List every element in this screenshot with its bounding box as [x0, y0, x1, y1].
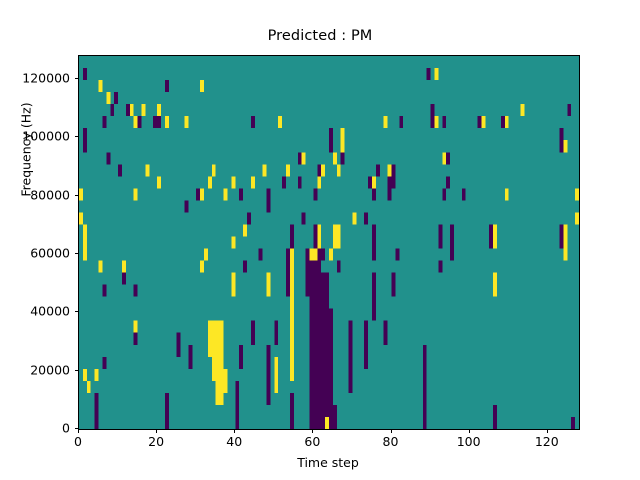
y-tick-mark — [75, 136, 79, 137]
heatmap-plot-area — [78, 55, 580, 430]
y-tick-label: 100000 — [0, 129, 70, 144]
y-tick-mark — [75, 195, 79, 196]
y-tick-label: 80000 — [0, 187, 70, 202]
y-tick-label: 40000 — [0, 304, 70, 319]
y-tick-mark — [75, 78, 79, 79]
x-tick-mark — [234, 429, 235, 433]
x-tick-label: 80 — [383, 434, 399, 449]
y-tick-mark — [75, 311, 79, 312]
y-tick-mark — [75, 370, 79, 371]
x-axis-label: Time step — [78, 455, 578, 470]
y-tick-label: 0 — [0, 421, 70, 436]
x-tick-mark — [312, 429, 313, 433]
x-tick-label: 40 — [226, 434, 242, 449]
x-tick-label: 0 — [74, 434, 82, 449]
x-tick-mark — [547, 429, 548, 433]
y-tick-label: 60000 — [0, 246, 70, 261]
matplotlib-figure: Predicted : PM 0200004000060000800001000… — [0, 0, 640, 480]
x-tick-label: 100 — [457, 434, 481, 449]
x-tick-label: 120 — [535, 434, 559, 449]
y-tick-label: 20000 — [0, 362, 70, 377]
chart-title: Predicted : PM — [0, 28, 640, 44]
x-tick-mark — [469, 429, 470, 433]
y-tick-mark — [75, 253, 79, 254]
x-tick-label: 20 — [148, 434, 164, 449]
heatmap-canvas — [79, 56, 579, 429]
x-tick-mark — [391, 429, 392, 433]
y-tick-label: 120000 — [0, 71, 70, 86]
y-axis-label: Frequency (Hz) — [19, 49, 34, 249]
x-tick-label: 60 — [304, 434, 320, 449]
x-tick-mark — [156, 429, 157, 433]
x-tick-mark — [78, 429, 79, 433]
